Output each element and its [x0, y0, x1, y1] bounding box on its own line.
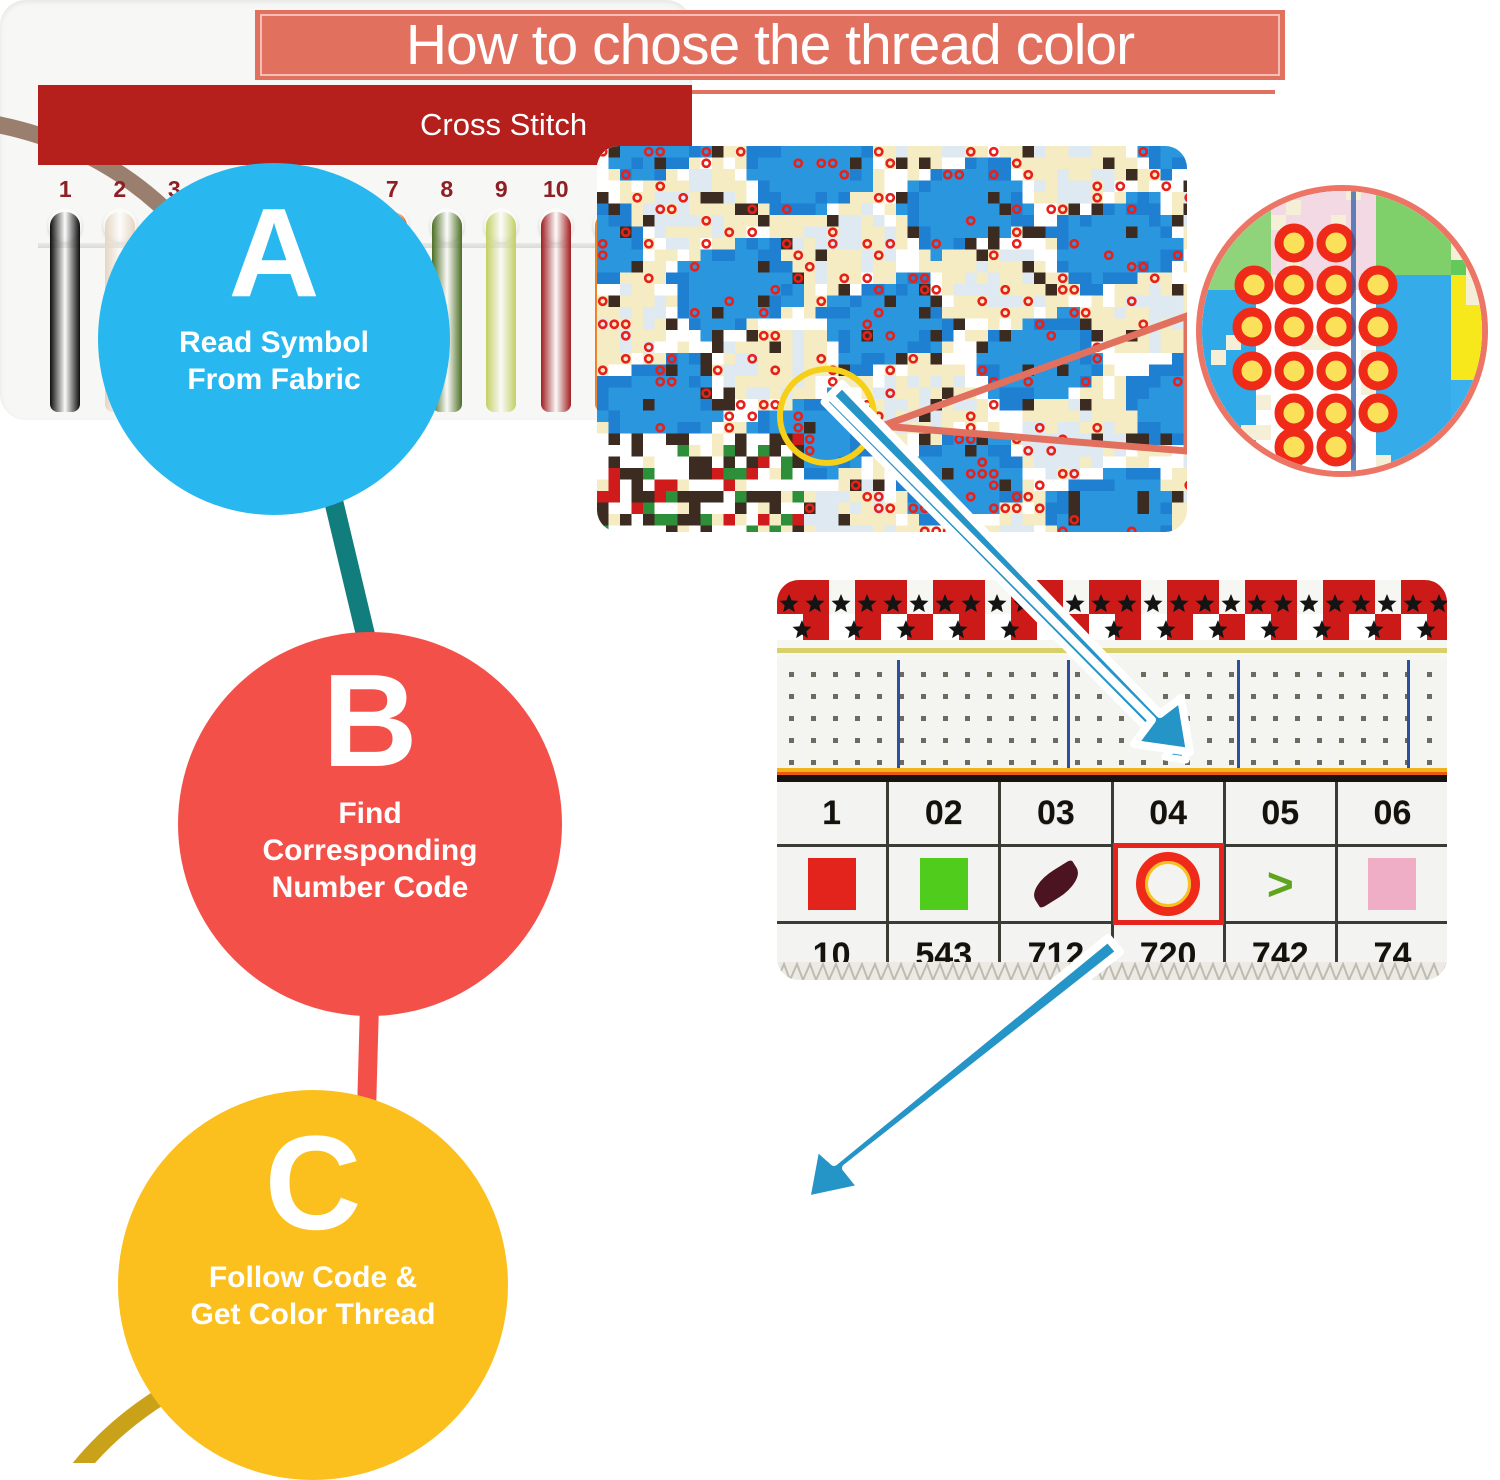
thread-slot-number: 7 [386, 176, 399, 202]
star-border-pattern [777, 580, 1447, 660]
chart-divider-stripe [777, 768, 1447, 782]
step-caption-a: Read Symbol From Fabric [179, 324, 369, 398]
thread-slot-number: 9 [495, 176, 508, 202]
thread-skein [48, 212, 82, 412]
symbol-code-table: 11002543037120472005>7420674 [777, 782, 1447, 980]
chart-column-number: 03 [1001, 782, 1110, 844]
chart-symbol-chevron-icon: > [1226, 844, 1335, 924]
step-caption-c: Follow Code & Get Color Thread [190, 1259, 435, 1333]
step-letter-a: A [229, 189, 320, 318]
chart-column-06[interactable]: 0674 [1338, 782, 1447, 980]
thread-slot-number: 10 [543, 176, 569, 202]
step-caption-b: Find Corresponding Number Code [263, 795, 478, 907]
thread-slot-number: 2 [113, 176, 126, 202]
chart-symbol-square-icon [889, 844, 998, 924]
chart-column-number: 06 [1338, 782, 1447, 844]
chart-top-pattern [777, 580, 1447, 790]
step-letter-c: C [265, 1116, 362, 1253]
chart-column-04[interactable]: 04720 [1114, 782, 1226, 980]
infographic-canvas: How to chose the thread color A Read Sym… [0, 0, 1500, 1463]
step-circle-c[interactable]: C Follow Code & Get Color Thread [118, 1090, 508, 1480]
chart-column-number: 04 [1114, 782, 1223, 844]
printed-fabric-photo[interactable] [597, 146, 1187, 532]
symbol-number-chart[interactable]: 11002543037120472005>7420674 [777, 580, 1447, 980]
thread-skein [539, 212, 573, 412]
thread-slot-number: 8 [440, 176, 453, 202]
blank-grid-area [777, 660, 1447, 772]
fabric-magnifier-circle [1196, 185, 1488, 477]
chart-column-number: 05 [1226, 782, 1335, 844]
chart-column-03[interactable]: 03712 [1001, 782, 1113, 980]
thread-slot-10[interactable]: 10 [529, 172, 584, 420]
step-circle-b[interactable]: B Find Corresponding Number Code [178, 632, 562, 1016]
card-header-band: Cross Stitch [38, 85, 692, 165]
chart-symbol-ring-icon [1114, 844, 1223, 924]
step-circle-a[interactable]: A Read Symbol From Fabric [98, 163, 450, 515]
fabric-pattern [597, 146, 1187, 532]
thread-slot-number: 1 [59, 176, 72, 202]
chart-column-02[interactable]: 02543 [889, 782, 1001, 980]
chart-symbol-square-icon [777, 844, 886, 924]
magnified-fabric-detail [1196, 185, 1488, 477]
chart-column-number: 02 [889, 782, 998, 844]
chart-column-number: 1 [777, 782, 886, 844]
thread-slot-1[interactable]: 1 [38, 172, 93, 420]
step-letter-b: B [322, 654, 417, 789]
chart-column-1[interactable]: 110 [777, 782, 889, 980]
chart-column-05[interactable]: 05>742 [1226, 782, 1338, 980]
chart-symbol-leaf-icon [1001, 844, 1110, 924]
card-band-label: Cross Stitch [420, 107, 587, 143]
thread-slot-9[interactable]: 9 [474, 172, 529, 420]
thread-skein [484, 212, 518, 412]
chart-symbol-square-icon [1338, 844, 1447, 924]
chart-bottom-binding [777, 962, 1447, 980]
